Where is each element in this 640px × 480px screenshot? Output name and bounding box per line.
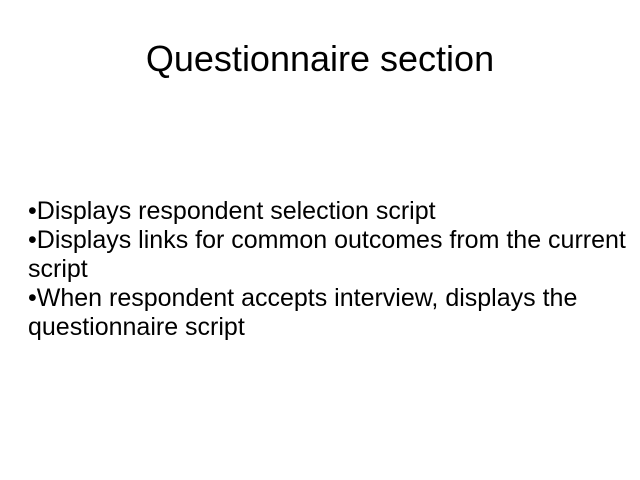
list-item: •Displays respondent selection script [28, 197, 628, 226]
list-item-label: Displays respondent selection script [37, 197, 436, 225]
bullet-point-icon: • [28, 284, 37, 312]
slide-canvas: Questionnaire section •Displays responde… [0, 0, 640, 480]
list-item: •When respondent accepts interview, disp… [28, 284, 628, 342]
bullet-point-icon: • [28, 226, 37, 254]
bullet-list: •Displays respondent selection script •D… [28, 197, 628, 342]
list-item: •Displays links for common outcomes from… [28, 226, 628, 284]
page-title: Questionnaire section [0, 38, 640, 80]
bullet-point-icon: • [28, 197, 37, 225]
list-item-label: Displays links for common outcomes from … [28, 226, 633, 283]
list-item-label: When respondent accepts interview, displ… [28, 284, 584, 341]
